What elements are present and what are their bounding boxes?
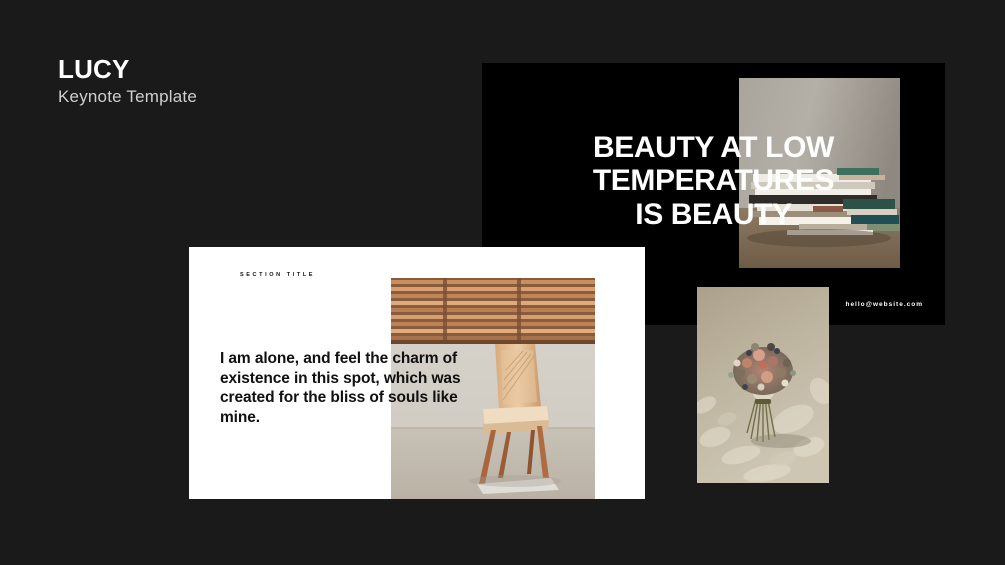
brand-block: LUCY Keynote Template <box>58 56 197 105</box>
presentation-preview-canvas: LUCY Keynote Template <box>0 0 1005 565</box>
brand-title: LUCY <box>58 56 197 82</box>
headline-line-1: BEAUTY AT LOW <box>492 131 935 164</box>
headline-line-3: IS BEAUTY <box>492 198 935 231</box>
dried-flower-bouquet-photo <box>697 287 829 483</box>
dark-slide-headline: BEAUTY AT LOW TEMPERATURES IS BEAUTY <box>482 131 945 231</box>
footer-email-address[interactable]: hello@website.com <box>845 301 923 308</box>
headline-line-2: TEMPERATURES <box>492 164 935 197</box>
section-title-label: SECTION TITLE <box>240 272 315 278</box>
quote-text: I am alone, and feel the charm of existe… <box>220 349 470 427</box>
brand-subtitle: Keynote Template <box>58 88 197 105</box>
slide-white-quote[interactable]: SECTION TITLE <box>189 247 645 499</box>
